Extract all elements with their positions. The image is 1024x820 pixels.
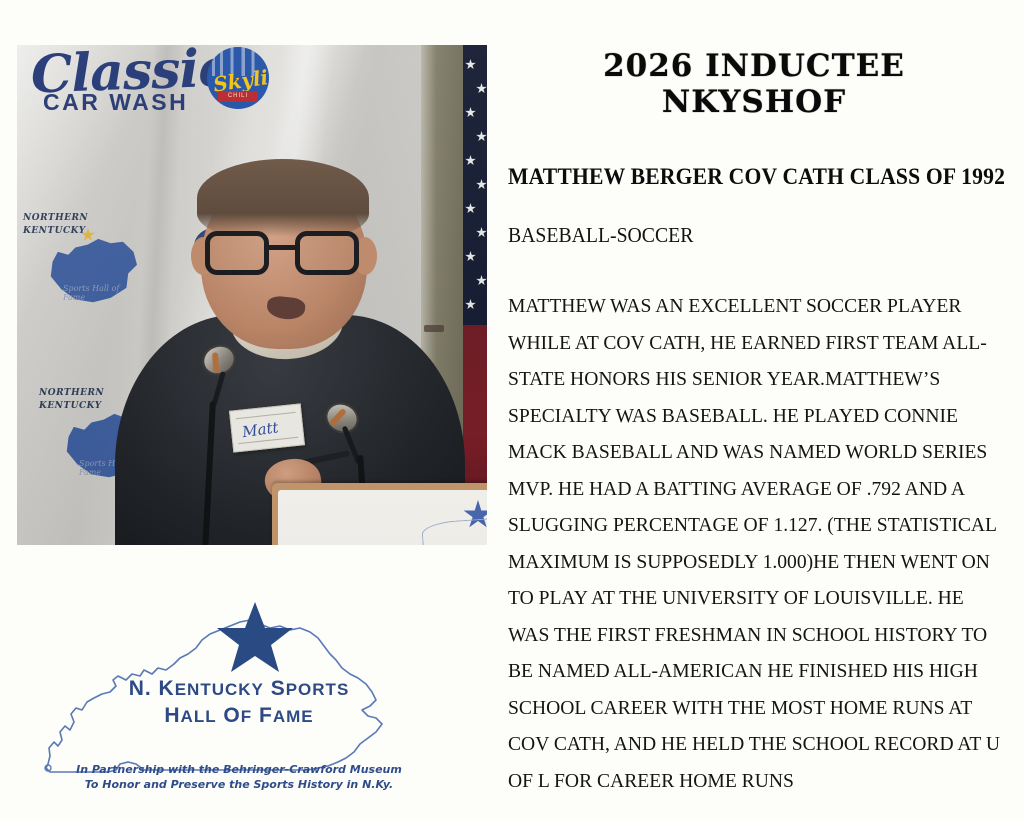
hair: [197, 159, 369, 237]
northern-kentucky-logo-top: NORTHERN KENTUCKY Sports Hall of Fame: [19, 210, 139, 315]
photo-contents: Classic CAR WASH Cla Skyline CHILI NORTH…: [17, 45, 487, 545]
nky-line2: KENTUCKY: [23, 226, 86, 236]
skyline-chili-ribbon: CHILI: [218, 91, 258, 102]
lens-left: [205, 231, 269, 275]
american-flag: [463, 45, 487, 545]
eyeglasses: [203, 231, 365, 277]
name-badge-text: Matt: [241, 418, 280, 441]
glasses-bridge: [267, 245, 297, 250]
nky-line1: NORTHERN: [23, 213, 88, 223]
skyline-chili-text: CHILI: [218, 91, 258, 102]
inductee-photo: Classic CAR WASH Cla Skyline CHILI NORTH…: [17, 45, 487, 545]
hof-star-icon: [217, 602, 293, 672]
podium-plaque-face: [278, 490, 487, 545]
kentucky-outline-icon: [421, 517, 487, 545]
inductee-name-line: MATTHEW BERGER COV CATH CLASS OF 1992: [508, 164, 978, 190]
sponsor-car-wash-label: CAR WASH: [43, 89, 188, 116]
inductee-biography: MATTHEW WAS AN EXCELLENT SOCCER PLAYER W…: [508, 288, 1005, 799]
lens-right: [295, 231, 359, 275]
nky-logo-text-bottom: NORTHERN KENTUCKY: [39, 387, 104, 413]
hof-tagline-line2: To Honor and Preserve the Sports History…: [24, 777, 454, 792]
inductee-sports: BASEBALL-SOCCER: [508, 223, 978, 248]
nky-line1-b: NORTHERN: [39, 388, 104, 398]
nky-sports-hall-of-fame-logo: N. KENTUCKY SPORTS HALL OF FAME In Partn…: [24, 596, 454, 810]
flag-stars: [463, 45, 487, 325]
inductee-text-column: 2026 INDUCTEE NKYSHOF MATTHEW BERGER COV…: [508, 48, 1008, 799]
name-badge: Matt: [229, 403, 305, 452]
skyline-chili-logo: Skyline CHILI: [207, 47, 269, 109]
nky-logo-text-top: NORTHERN KENTUCKY: [23, 212, 88, 238]
inductee-poster: Classic CAR WASH Cla Skyline CHILI NORTH…: [0, 0, 1024, 820]
page-title: 2026 INDUCTEE NKYSHOF: [508, 48, 1008, 120]
nky-line2-b: KENTUCKY: [39, 401, 102, 411]
hof-tagline-line1: In Partnership with the Behringer-Crawfo…: [24, 762, 454, 777]
podium-plaque: [272, 483, 487, 545]
hof-tagline: In Partnership with the Behringer-Crawfo…: [24, 762, 454, 792]
nky-logo-subtitle: Sports Hall of Fame: [63, 284, 139, 302]
